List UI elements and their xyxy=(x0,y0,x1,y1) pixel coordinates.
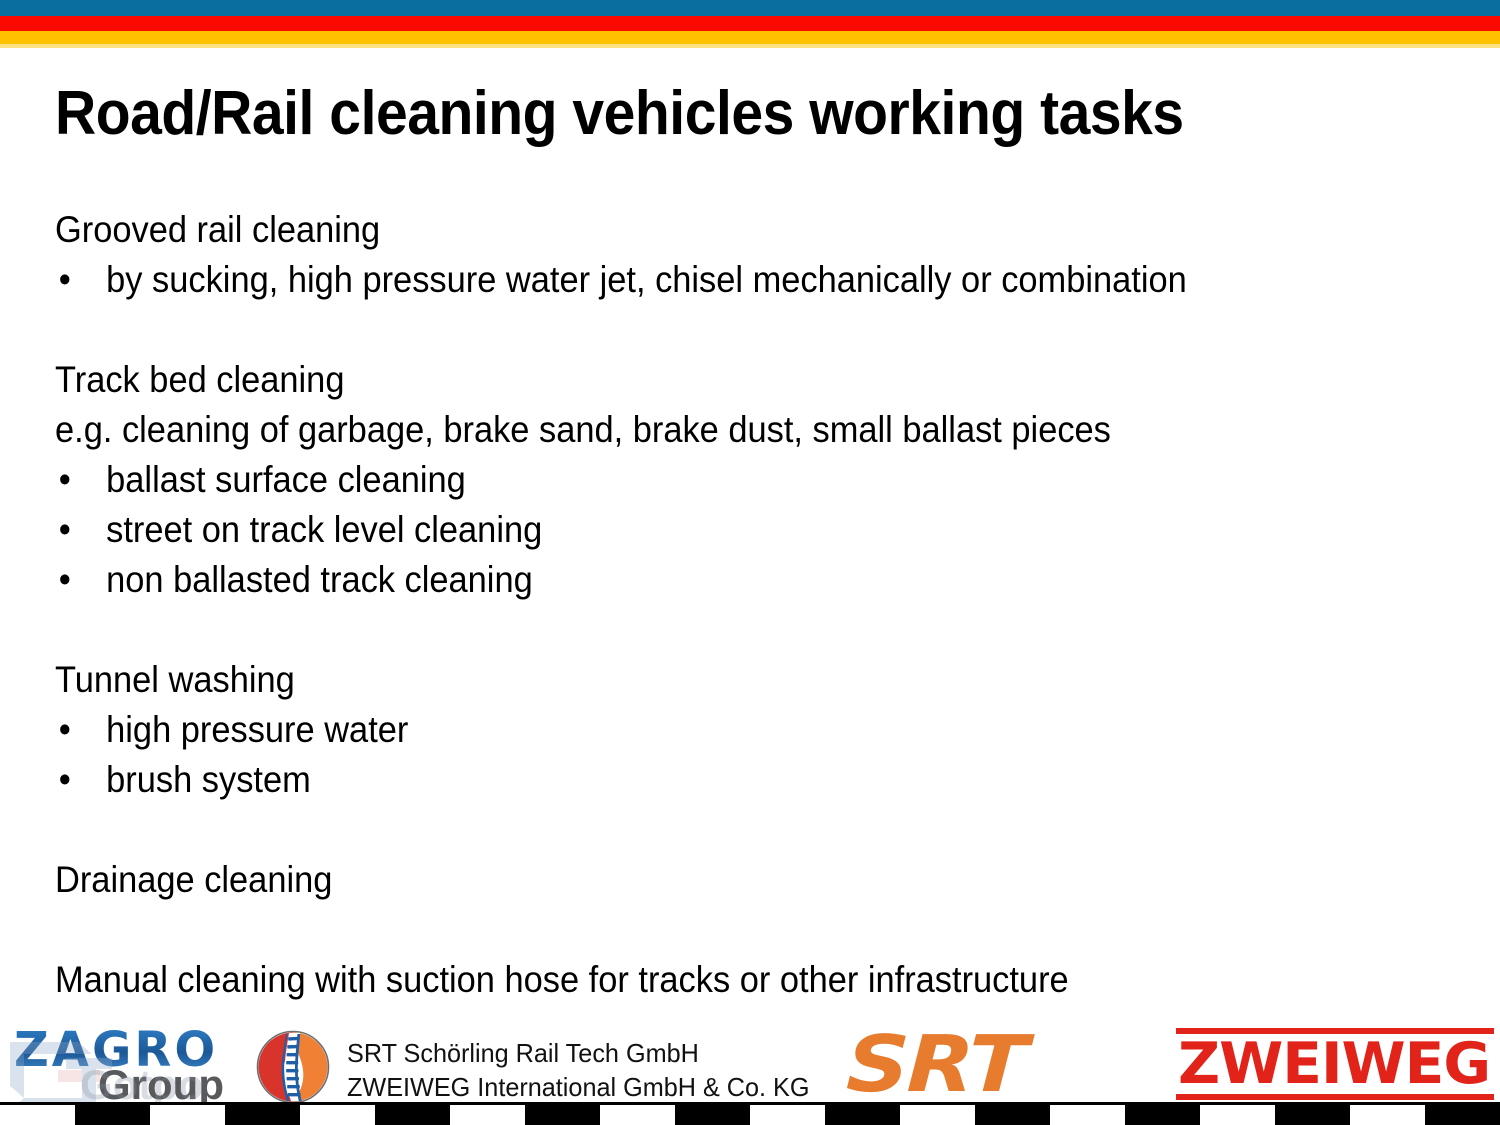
zagro-logo: ZAGRO Group xyxy=(8,1026,238,1104)
body-bullet-text: brush system xyxy=(106,759,311,800)
bullet-dot-icon: • xyxy=(59,705,78,755)
company-name-line-2: ZWEIWEG International GmbH & Co. KG xyxy=(347,1070,810,1104)
body-bullet-text: by sucking, high pressure water jet, chi… xyxy=(106,259,1187,300)
company-names: SRT Schörling Rail Tech GmbH ZWEIWEG Int… xyxy=(347,1036,810,1104)
srt-wordmark-logo: SRT xyxy=(845,1026,1027,1104)
slide-footer: ZAGRO Group SRT Schörling Rail xyxy=(0,1012,1500,1105)
header-band-yellow-fade xyxy=(0,44,1500,48)
header-band-red xyxy=(0,16,1500,31)
checker-strip xyxy=(0,1105,1500,1125)
body-paragraph: Manual cleaning with suction hose for tr… xyxy=(55,955,1366,1005)
bullet-dot-icon: • xyxy=(59,755,78,805)
body-paragraph-text: Manual cleaning with suction hose for tr… xyxy=(55,959,1069,1000)
bullet-dot-icon: • xyxy=(59,505,78,555)
header-color-bar xyxy=(0,0,1500,48)
company-name-line-1: SRT Schörling Rail Tech GmbH xyxy=(347,1036,810,1070)
body-bullet-text: street on track level cleaning xyxy=(106,509,542,550)
body-spacer xyxy=(55,605,1366,655)
slide-title: Road/Rail cleaning vehicles working task… xyxy=(55,78,1343,150)
body-paragraph-text: e.g. cleaning of garbage, brake sand, br… xyxy=(55,409,1111,450)
header-band-blue xyxy=(0,0,1500,16)
zagro-group-label: Group xyxy=(98,1064,224,1106)
body-heading-text: Drainage cleaning xyxy=(55,859,332,900)
body-heading-text: Tunnel washing xyxy=(55,659,295,700)
zweiweg-wordmark: ZWEIWEG xyxy=(1178,1034,1498,1094)
body-heading-text: Track bed cleaning xyxy=(55,359,344,400)
body-bullet-text: high pressure water xyxy=(106,709,408,750)
body-bullet-item: •ballast surface cleaning xyxy=(55,455,1366,505)
bullet-dot-icon: • xyxy=(59,455,78,505)
header-band-yellow xyxy=(0,31,1500,44)
body-paragraph: e.g. cleaning of garbage, brake sand, br… xyxy=(55,405,1366,455)
body-bullet-item: •high pressure water xyxy=(55,705,1366,755)
bullet-dot-icon: • xyxy=(59,255,78,305)
body-spacer xyxy=(55,905,1366,955)
bullet-dot-icon: • xyxy=(59,555,78,605)
body-bullet-item: •brush system xyxy=(55,755,1366,805)
body-heading: Drainage cleaning xyxy=(55,855,1366,905)
body-bullet-text: ballast surface cleaning xyxy=(106,459,466,500)
body-heading-text: Grooved rail cleaning xyxy=(55,209,380,250)
body-heading: Tunnel washing xyxy=(55,655,1366,705)
body-bullet-item: •non ballasted track cleaning xyxy=(55,555,1366,605)
body-bullet-item: •street on track level cleaning xyxy=(55,505,1366,555)
body-bullet-text: non ballasted track cleaning xyxy=(106,559,533,600)
srt-circular-emblem-icon xyxy=(256,1030,330,1104)
slide-body: Grooved rail cleaning•by sucking, high p… xyxy=(55,205,1465,1005)
body-spacer xyxy=(55,805,1366,855)
body-heading: Grooved rail cleaning xyxy=(55,205,1366,255)
zweiweg-rule-bottom xyxy=(1176,1094,1494,1100)
body-spacer xyxy=(55,305,1366,355)
zweiweg-logo: ZWEIWEG xyxy=(1176,1028,1494,1100)
body-bullet-item: •by sucking, high pressure water jet, ch… xyxy=(55,255,1366,305)
body-heading: Track bed cleaning xyxy=(55,355,1366,405)
